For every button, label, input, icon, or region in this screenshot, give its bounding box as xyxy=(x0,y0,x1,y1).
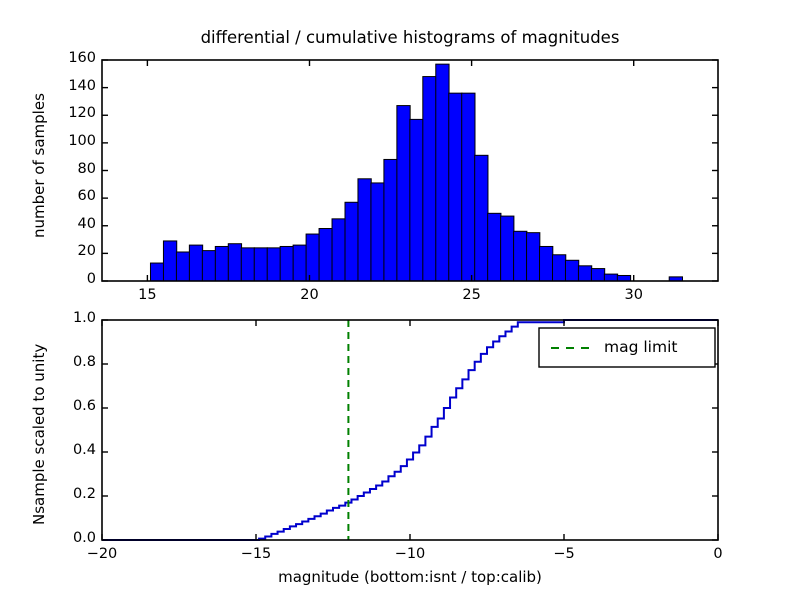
histogram-bar xyxy=(332,219,345,281)
histogram-bar xyxy=(215,246,228,281)
tick-label: 20 xyxy=(279,287,339,303)
legend-label-mag-limit: mag limit xyxy=(604,338,677,356)
tick-label: 140 xyxy=(40,78,96,94)
histogram-bar xyxy=(423,77,436,281)
tick-label: 0 xyxy=(40,271,96,287)
top-panel xyxy=(102,60,718,281)
histogram-bar xyxy=(150,263,163,281)
matplotlib-figure: differential / cumulative histograms of … xyxy=(0,0,800,600)
tick-label: 0.0 xyxy=(40,530,96,546)
tick-label: 60 xyxy=(40,188,96,204)
histogram-bar xyxy=(293,245,306,281)
tick-label: −10 xyxy=(380,546,440,562)
histogram-bar xyxy=(501,216,514,281)
histogram-bar xyxy=(163,241,176,281)
histogram-bar xyxy=(475,155,488,281)
tick-label: 80 xyxy=(40,161,96,177)
histogram-bar xyxy=(540,246,553,281)
histogram-bar xyxy=(267,248,280,281)
tick-label: 0.8 xyxy=(40,354,96,370)
tick-label: 0 xyxy=(688,546,748,562)
tick-label: −20 xyxy=(72,546,132,562)
histogram-bar xyxy=(176,252,189,281)
tick-label: 30 xyxy=(604,287,664,303)
histogram-bar xyxy=(345,202,358,281)
histogram-bar xyxy=(189,245,202,281)
histogram-bar xyxy=(280,246,293,281)
tick-label: 0.4 xyxy=(40,442,96,458)
histogram-bar xyxy=(228,244,241,281)
histogram-bar xyxy=(552,255,565,281)
tick-label: 100 xyxy=(40,133,96,149)
histogram-bar xyxy=(384,159,397,281)
histogram-bar xyxy=(604,274,617,281)
tick-label: 40 xyxy=(40,216,96,232)
tick-label: 20 xyxy=(40,243,96,259)
tick-label: −15 xyxy=(226,546,286,562)
histogram-bar xyxy=(591,269,604,281)
histogram-bar xyxy=(436,64,449,281)
histogram-bar xyxy=(527,233,540,281)
histogram-bar xyxy=(617,275,630,281)
histogram-bar xyxy=(410,119,423,281)
histogram-bar xyxy=(488,213,501,281)
tick-label: 1.0 xyxy=(40,310,96,326)
histogram-bar xyxy=(241,248,254,281)
tick-label: −5 xyxy=(534,546,594,562)
histogram-bar xyxy=(449,93,462,281)
histogram-bar xyxy=(306,234,319,281)
tick-label: 120 xyxy=(40,105,96,121)
histogram-bar xyxy=(565,260,578,281)
tick-label: 0.6 xyxy=(40,398,96,414)
histogram-bar xyxy=(578,266,591,281)
histogram-bar xyxy=(319,229,332,281)
tick-label: 160 xyxy=(40,50,96,66)
tick-label: 25 xyxy=(442,287,502,303)
tick-label: 0.2 xyxy=(40,486,96,502)
histogram-bar xyxy=(254,248,267,281)
tick-label: 15 xyxy=(117,287,177,303)
histogram-bar xyxy=(358,179,371,281)
histogram-bar xyxy=(397,106,410,281)
histogram-bar xyxy=(371,183,384,281)
histogram-bar xyxy=(202,251,215,281)
histogram-bar xyxy=(514,231,527,281)
histogram-bar xyxy=(462,93,475,281)
